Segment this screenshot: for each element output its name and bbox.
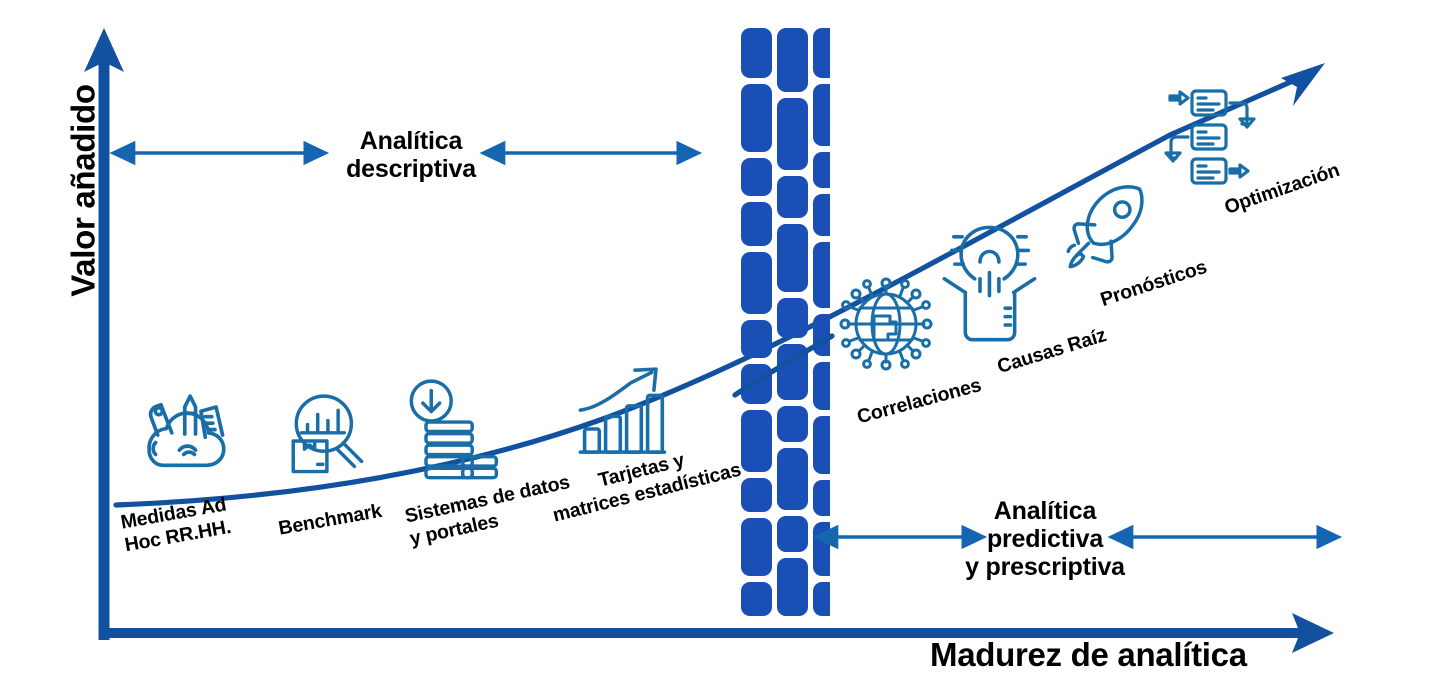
band-label-predictive: Analítica predictiva y prescriptiva [935,497,1155,581]
lightbulb-box-icon [944,227,1034,339]
rocket-icon [1068,187,1142,267]
magnifier-barchart-icon [293,396,361,471]
network-globe-chip-icon [841,279,931,369]
analytics-maturity-diagram: Valor añadido Madurez de analítica Analí… [0,0,1440,700]
cloud-design-tools-icon [149,396,224,465]
x-axis-label: Madurez de analítica [930,637,1247,674]
diagram-canvas [0,0,1440,700]
y-axis-label: Valor añadido [66,70,103,310]
band-label-descriptive: Analítica descriptiva [321,127,501,183]
barrier-wall [741,28,844,616]
